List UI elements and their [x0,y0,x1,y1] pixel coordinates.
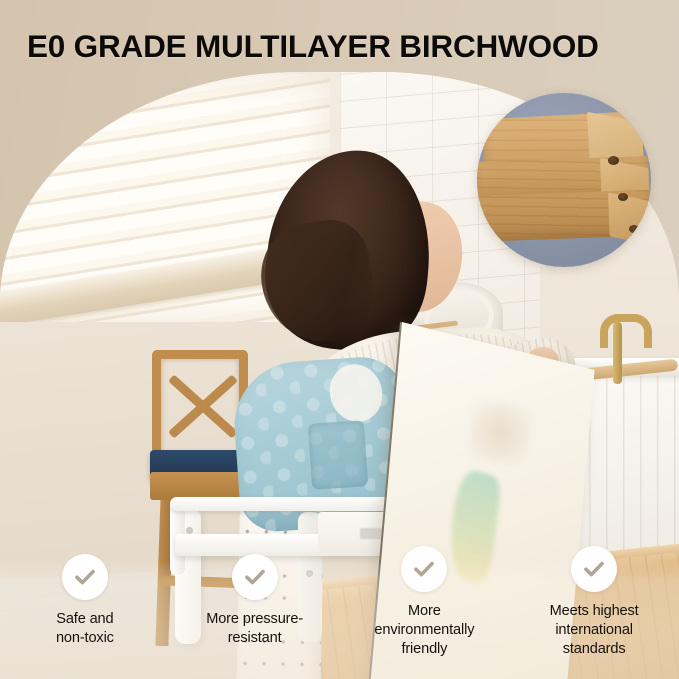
feature-list: Safe and non-toxic More pressure- resist… [0,554,679,679]
check-icon [401,546,447,592]
check-icon [571,546,617,592]
feature-label-line-1: More pressure- [206,610,303,629]
feature-label-line-1: Meets highest [550,602,639,621]
feature-label: Safe and non-toxic [56,610,114,648]
page-title: E0 GRADE MULTILAYER BIRCHWOOD [27,24,657,68]
vest-pocket [308,420,368,490]
drill-hole-1 [608,156,619,165]
feature-label: More environmentally friendly [374,602,474,659]
feature-label-line-3: friendly [374,640,474,659]
drill-hole-3 [629,225,639,233]
art-board-smudge [467,399,533,465]
feature-label-line-3: standards [550,640,639,659]
wood-beam-bottom-end [608,192,651,245]
feature-item-international-standards: Meets highest international standards [509,546,679,659]
stool-top-rail [170,497,408,511]
feature-label-line-1: Safe and [56,610,114,629]
feature-item-safe-non-toxic: Safe and non-toxic [0,554,170,648]
feature-label: Meets highest international standards [550,602,639,659]
stool-screw-1 [186,527,193,534]
feature-item-pressure-resistant: More pressure- resistant [170,554,340,648]
product-feature-banner: E0 GRADE MULTILAYER BIRCHWOOD [0,0,679,679]
feature-label-line-2: environmentally [374,621,474,640]
feature-item-environmentally-friendly: More environmentally friendly [340,546,510,659]
feature-label-line-2: non-toxic [56,629,114,648]
feature-label-line-1: More [374,602,474,621]
feature-label: More pressure- resistant [206,610,303,648]
drill-hole-2 [618,193,628,201]
birchwood-detail-inset [477,93,651,267]
check-icon [62,554,108,600]
feature-label-line-2: resistant [206,629,303,648]
check-icon [232,554,278,600]
feature-label-line-2: international [550,621,639,640]
faucet-stem [613,322,622,384]
faucet-arc [600,314,652,348]
